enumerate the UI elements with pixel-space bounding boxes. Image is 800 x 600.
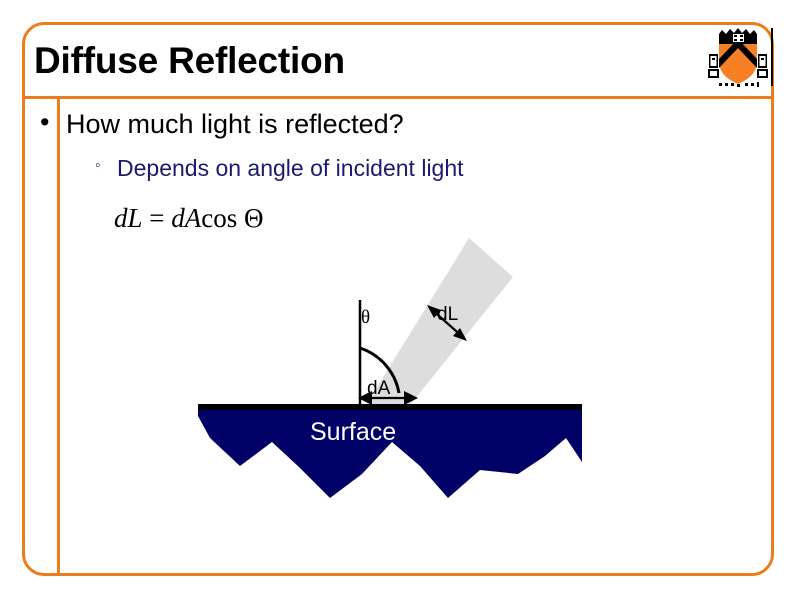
incident-light-beam-diagram (180, 230, 610, 520)
bullet-text-secondary: Depends on angle of incident light (117, 155, 464, 182)
bullet-marker-circle: ◦ (95, 155, 117, 177)
slide: Diffuse Reflection (0, 0, 800, 600)
equation-theta-symbol: Θ (244, 203, 264, 233)
body-left-rule (57, 99, 60, 576)
surface-top-line (198, 404, 582, 410)
equation-rhs-var: dA (171, 203, 201, 233)
bullet-item-primary: • How much light is reflected? (40, 109, 404, 140)
page-title: Diffuse Reflection (34, 40, 345, 82)
label-dA: dA (367, 378, 390, 400)
equation-equals: = (149, 203, 164, 233)
label-dL: dL (437, 304, 458, 326)
label-theta: θ (361, 307, 370, 329)
bullet-item-secondary: ◦ Depends on angle of incident light (95, 155, 464, 182)
bullet-text-primary: How much light is reflected? (66, 109, 404, 140)
title-separator-rule (22, 96, 774, 99)
princeton-shield-logo (705, 28, 775, 90)
equation-lhs: dL (114, 203, 143, 233)
bullet-marker-disc: • (40, 109, 66, 136)
label-surface: Surface (310, 418, 396, 447)
equation-cos: cos (201, 203, 237, 233)
